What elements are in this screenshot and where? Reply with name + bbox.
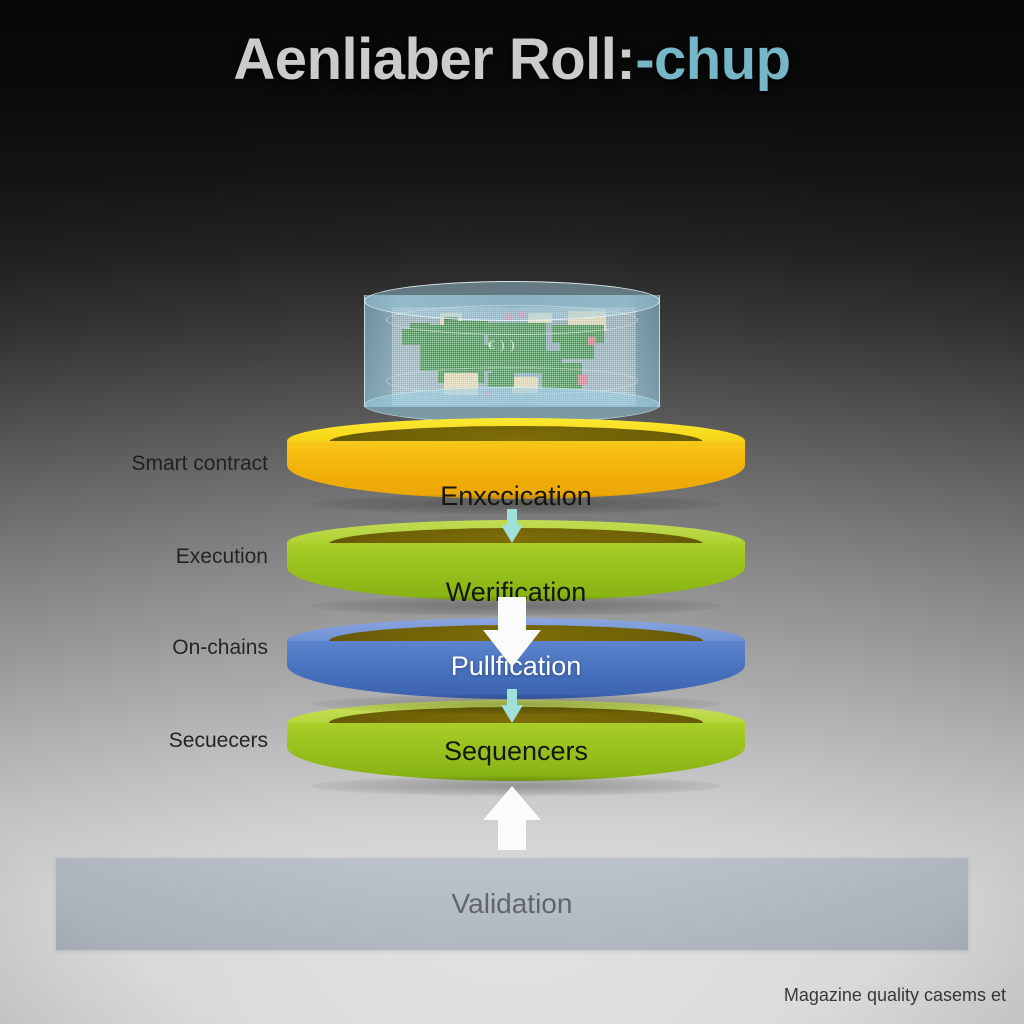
validation-bar[interactable]: Validation	[56, 858, 968, 950]
arrow-verification-to-publication-icon	[483, 597, 541, 667]
page-title: Aenliaber Roll:-chup	[0, 26, 1024, 93]
footer-caption: Magazine quality casems et	[784, 985, 1006, 1006]
validation-bar-label: Validation	[56, 858, 968, 950]
side-label-smart-contract: Smart contract	[28, 452, 268, 476]
glass-cylinder-with-globe: € ) )	[364, 281, 660, 421]
globe-marking-b: )	[500, 337, 504, 353]
page-title-main: Aenliaber Roll:	[233, 27, 635, 92]
glass-cylinder-top-ellipse	[364, 281, 660, 321]
arrow-validation-to-sequencers-icon	[483, 786, 541, 850]
globe-marking-c: )	[510, 337, 514, 353]
side-label-execution: Execution	[28, 545, 268, 569]
side-label-secuecers: Secuecers	[28, 729, 268, 753]
side-label-on-chains: On-chains	[28, 636, 268, 660]
arrow-publication-to-sequencers-icon	[501, 689, 523, 723]
page-title-accent: -chup	[635, 27, 790, 92]
disc-label-sequencers: Sequencers	[287, 736, 745, 767]
disc-label-encryption: Enxccication	[287, 481, 745, 512]
arrow-encryption-to-verification-icon	[501, 509, 523, 543]
diagram-canvas: Aenliaber Roll:-chup	[0, 0, 1024, 1024]
globe-marking-a: €	[488, 337, 495, 353]
